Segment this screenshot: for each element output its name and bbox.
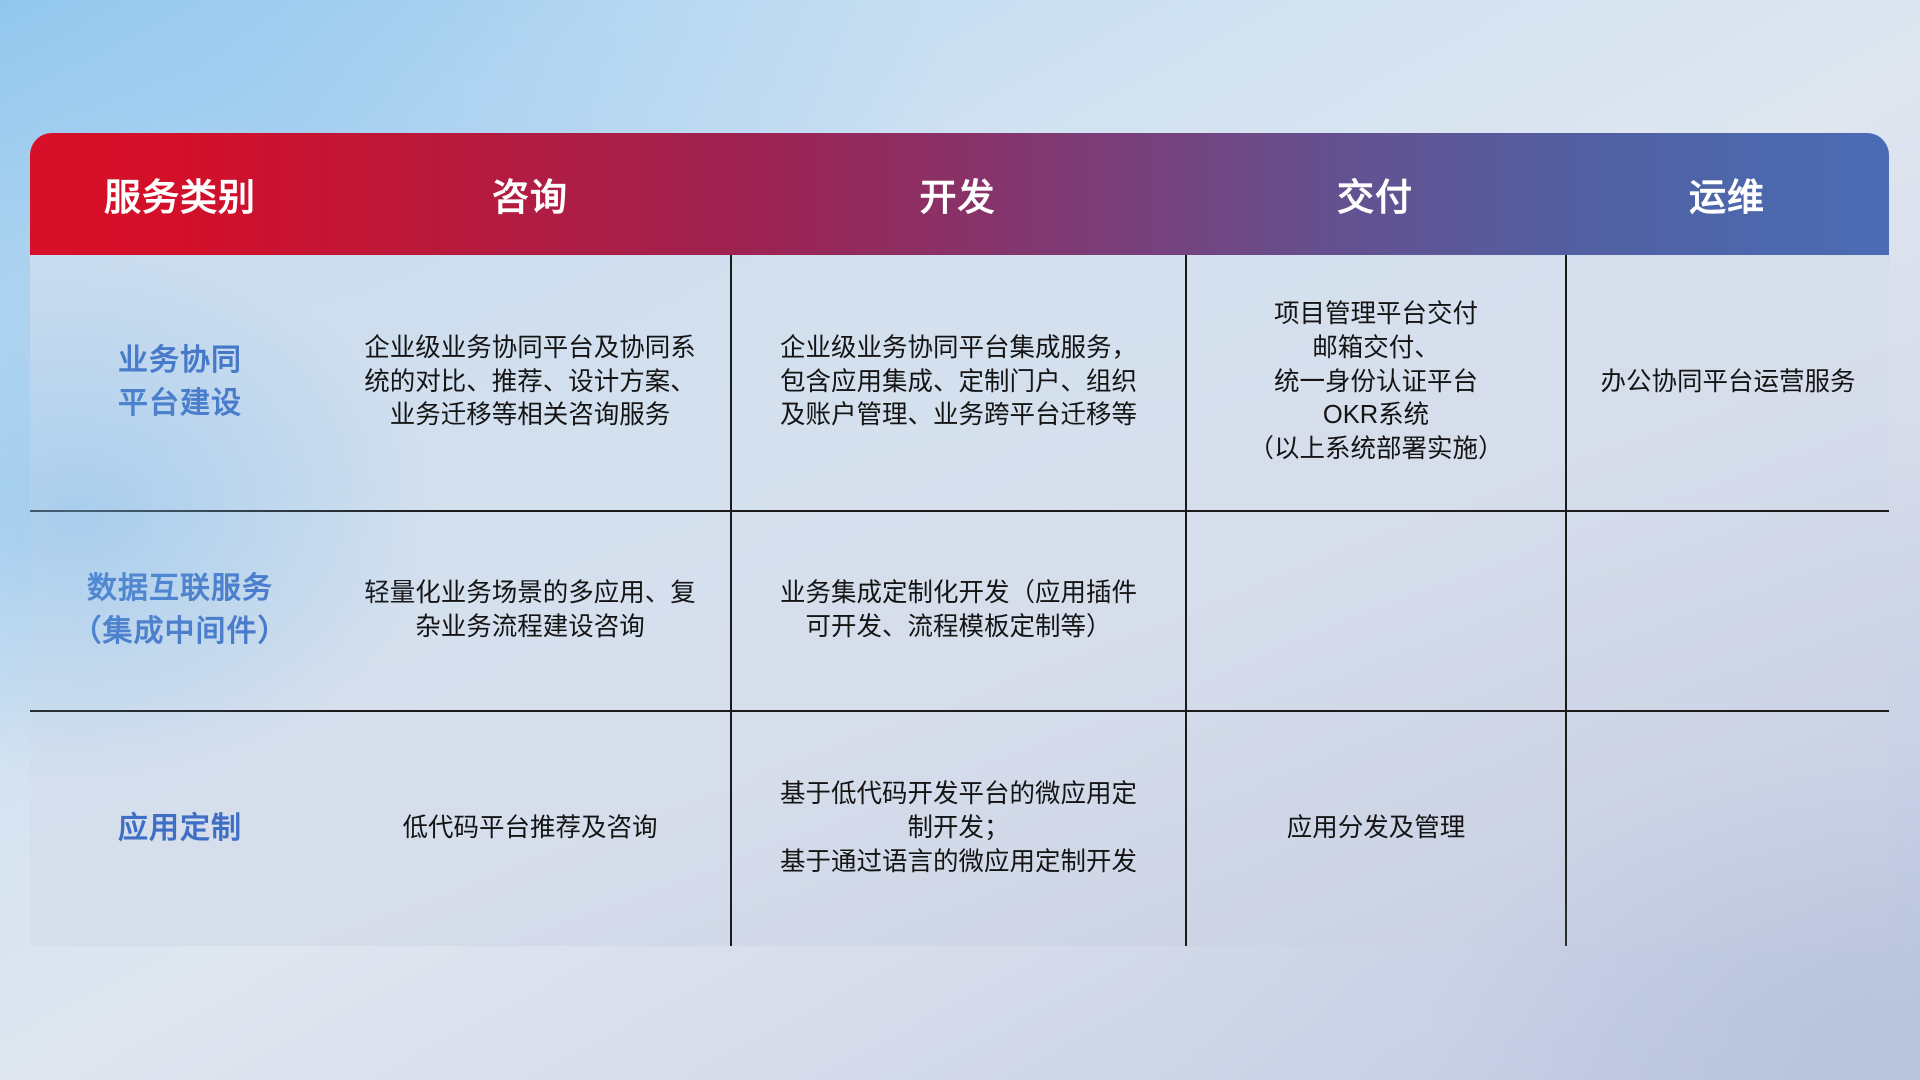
- table-header-row: 服务类别 咨询 开发 交付 运维: [30, 133, 1889, 255]
- table-body: 业务协同 平台建设 企业级业务协同平台及协同系 统的对比、推荐、设计方案、 业务…: [30, 255, 1889, 946]
- slide-canvas: 服务类别 咨询 开发 交付 运维 业务协同 平台建设 企业级业务协同平台及协同系…: [0, 0, 1920, 1080]
- cell-category: 数据互联服务 （集成中间件）: [30, 512, 330, 710]
- cell-consulting: 低代码平台推荐及咨询: [330, 712, 730, 946]
- cell-delivery: [1185, 512, 1565, 710]
- cell-category: 应用定制: [30, 712, 330, 946]
- service-matrix-table: 服务类别 咨询 开发 交付 运维 业务协同 平台建设 企业级业务协同平台及协同系…: [30, 133, 1889, 958]
- column-header-delivery: 交付: [1185, 167, 1565, 221]
- cell-category: 业务协同 平台建设: [30, 255, 330, 510]
- table-row: 业务协同 平台建设 企业级业务协同平台及协同系 统的对比、推荐、设计方案、 业务…: [30, 255, 1889, 510]
- column-header-development: 开发: [730, 167, 1185, 221]
- column-header-category: 服务类别: [30, 167, 330, 221]
- column-header-consulting: 咨询: [330, 167, 730, 221]
- cell-delivery: 项目管理平台交付 邮箱交付、 统一身份认证平台 OKR系统 （以上系统部署实施）: [1185, 255, 1565, 510]
- table-row: 数据互联服务 （集成中间件） 轻量化业务场景的多应用、复 杂业务流程建设咨询 业…: [30, 510, 1889, 710]
- column-header-operations: 运维: [1565, 167, 1889, 221]
- cell-operations: [1565, 512, 1889, 710]
- cell-development: 基于低代码开发平台的微应用定 制开发； 基于通过语言的微应用定制开发: [730, 712, 1185, 946]
- cell-consulting: 企业级业务协同平台及协同系 统的对比、推荐、设计方案、 业务迁移等相关咨询服务: [330, 255, 730, 510]
- cell-operations: [1565, 712, 1889, 946]
- cell-development: 业务集成定制化开发（应用插件 可开发、流程模板定制等）: [730, 512, 1185, 710]
- cell-development: 企业级业务协同平台集成服务， 包含应用集成、定制门户、组织 及账户管理、业务跨平…: [730, 255, 1185, 510]
- cell-operations: 办公协同平台运营服务: [1565, 255, 1889, 510]
- cell-consulting: 轻量化业务场景的多应用、复 杂业务流程建设咨询: [330, 512, 730, 710]
- table-row: 应用定制 低代码平台推荐及咨询 基于低代码开发平台的微应用定 制开发； 基于通过…: [30, 710, 1889, 946]
- cell-delivery: 应用分发及管理: [1185, 712, 1565, 946]
